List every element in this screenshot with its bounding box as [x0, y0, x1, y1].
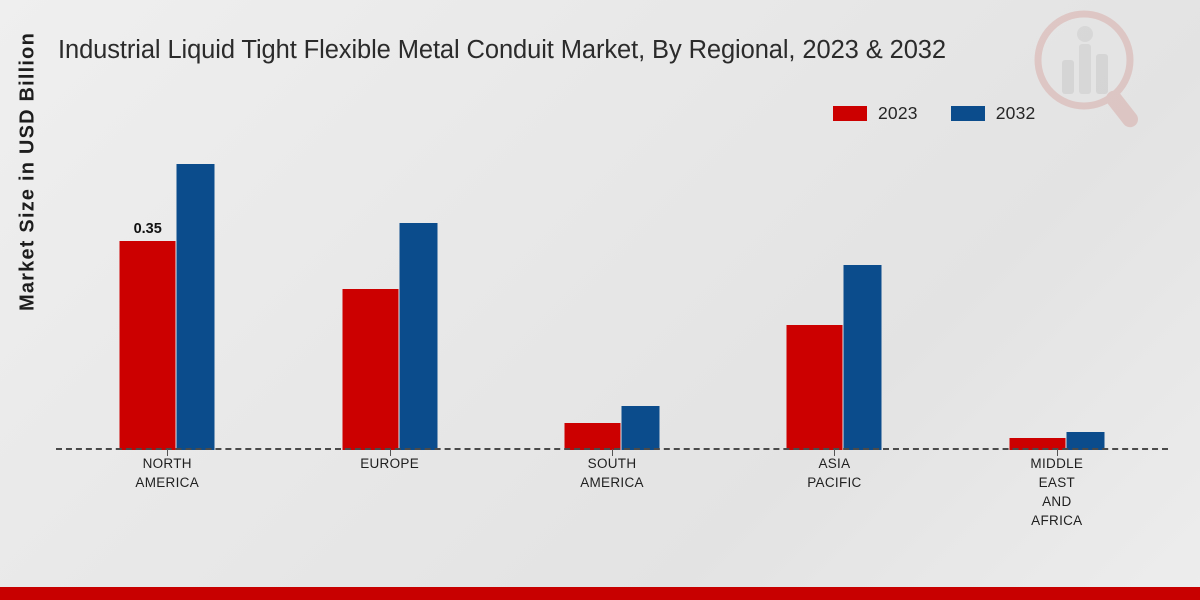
x-axis-label-line: EUROPE [278, 454, 500, 473]
x-axis-labels: NORTHAMERICAEUROPESOUTHAMERICAASIAPACIFI… [56, 454, 1168, 531]
x-axis-label-south-america: SOUTHAMERICA [501, 454, 723, 531]
x-axis-label-line: AMERICA [56, 473, 278, 492]
magnifier-bar-chart-logo-watermark [1022, 8, 1172, 128]
bar-value-label: 0.35 [134, 221, 162, 237]
bar-group [723, 140, 945, 450]
bar-pair [342, 223, 437, 450]
bar-2032-north-america[interactable] [177, 164, 215, 450]
x-axis-label-line: MIDDLE [946, 454, 1168, 473]
y-axis-title: Market Size in USD Billion [17, 0, 40, 352]
x-axis-label-line: ASIA [723, 454, 945, 473]
chart-title: Industrial Liquid Tight Flexible Metal C… [58, 34, 1058, 68]
x-axis-label-middle-east-and-africa: MIDDLEEASTANDAFRICA [946, 454, 1168, 531]
legend-item-2023[interactable]: 2023 [833, 103, 918, 124]
bar-group [278, 140, 500, 450]
x-axis-label-asia-pacific: ASIAPACIFIC [723, 454, 945, 531]
x-axis-label-line: AND [946, 492, 1168, 511]
x-axis-label-europe: EUROPE [278, 454, 500, 531]
x-axis-label-north-america: NORTHAMERICA [56, 454, 278, 531]
x-axis-label-line: NORTH [56, 454, 278, 473]
chart-legend: 2023 2032 [833, 103, 1035, 124]
legend-swatch-2023 [833, 106, 867, 121]
plot-area: 0.35 [56, 140, 1168, 450]
legend-item-2032[interactable]: 2032 [951, 103, 1036, 124]
bar-2023-north-america[interactable] [120, 241, 176, 450]
bar-2032-south-america[interactable] [622, 406, 660, 450]
legend-swatch-2032 [951, 106, 985, 121]
legend-label-2023: 2023 [878, 103, 918, 124]
bar-2023-europe[interactable] [342, 289, 398, 450]
bar-pair [565, 406, 660, 450]
x-axis-label-line: AFRICA [946, 511, 1168, 530]
x-axis-label-line: PACIFIC [723, 473, 945, 492]
x-axis-label-line: EAST [946, 473, 1168, 492]
legend-label-2032: 2032 [996, 103, 1036, 124]
x-axis-label-line: AMERICA [501, 473, 723, 492]
bar-2032-asia-pacific[interactable] [844, 265, 882, 450]
bar-2023-asia-pacific[interactable] [787, 325, 843, 450]
bar-pair: 0.35 [120, 164, 215, 450]
bar-groups: 0.35 [56, 140, 1168, 450]
x-axis-label-line: SOUTH [501, 454, 723, 473]
footer-accent-band [0, 587, 1200, 600]
bar-2023-south-america[interactable] [565, 423, 621, 450]
bar-group [501, 140, 723, 450]
bar-group [946, 140, 1168, 450]
bar-group: 0.35 [56, 140, 278, 450]
bar-2032-europe[interactable] [399, 223, 437, 450]
bar-pair [787, 265, 882, 450]
